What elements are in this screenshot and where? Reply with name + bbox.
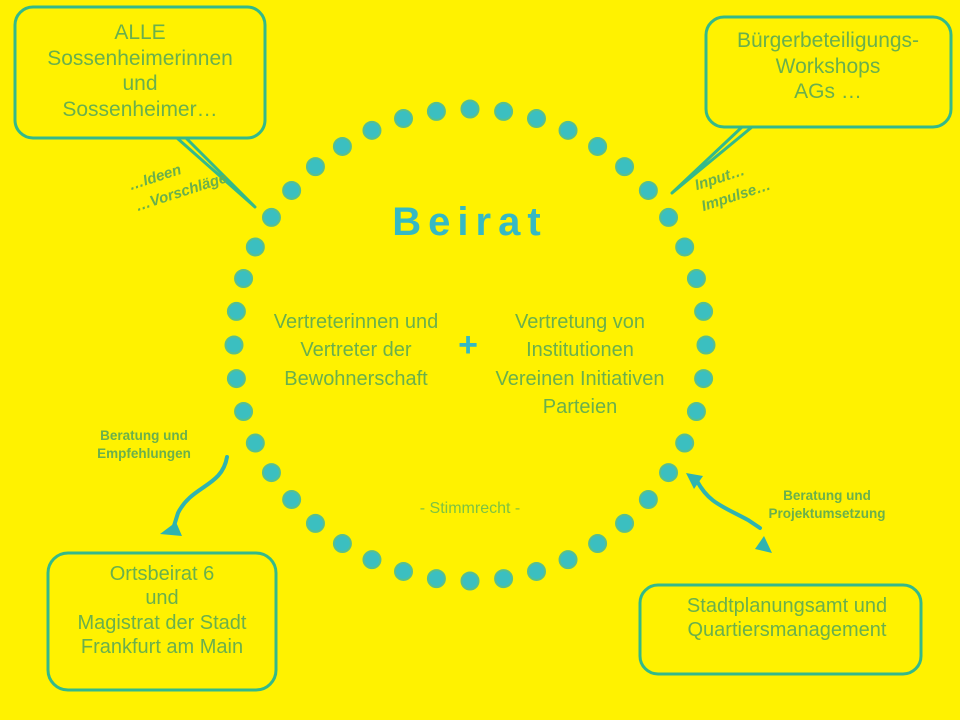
ring-dot — [428, 103, 445, 120]
beratung-empfehlungen-caption: Beratung und Empfehlungen — [74, 427, 214, 463]
ring-dot — [307, 515, 324, 532]
ring-dot — [528, 563, 545, 580]
ring-dot — [395, 563, 412, 580]
ring-dot — [228, 303, 245, 320]
beirat-right-column-text: Vertretung von Institutionen Vereinen In… — [492, 308, 668, 422]
ring-dot — [495, 570, 512, 587]
ring-dot — [695, 303, 712, 320]
ring-dot — [395, 110, 412, 127]
ortsbeirat-box[interactable] — [48, 553, 276, 690]
ring-dot — [247, 435, 264, 452]
ring-dot — [462, 573, 479, 590]
ring-dot — [560, 122, 577, 139]
ring-dot — [363, 122, 380, 139]
ring-dot — [228, 370, 245, 387]
ring-dot — [616, 515, 633, 532]
beratung-projektumsetzung-caption: Beratung und Projektumsetzung — [742, 487, 912, 523]
ring-dot — [676, 435, 693, 452]
ring-dot — [235, 403, 252, 420]
ring-dot — [688, 403, 705, 420]
buergerbeteiligung-bubble[interactable] — [672, 17, 951, 193]
ring-dot — [235, 270, 252, 287]
ring-dot — [695, 370, 712, 387]
plus-icon: + — [448, 328, 488, 362]
ring-dot — [495, 103, 512, 120]
ring-dot — [334, 535, 351, 552]
ring-dot — [283, 491, 300, 508]
ring-dot — [560, 551, 577, 568]
ring-dot — [428, 570, 445, 587]
ring-dot — [589, 535, 606, 552]
page-title: Beirat — [330, 200, 610, 245]
ring-dot — [334, 138, 351, 155]
ring-dot — [698, 337, 715, 354]
beratung-empfehlungen-arrow — [160, 457, 227, 536]
ring-dot — [660, 209, 677, 226]
ring-dot — [263, 464, 280, 481]
ring-dot — [226, 337, 243, 354]
ring-dot — [640, 182, 657, 199]
ring-dot — [307, 158, 324, 175]
ring-dot — [363, 551, 380, 568]
ring-dot — [676, 238, 693, 255]
ring-dot — [616, 158, 633, 175]
ring-dot — [688, 270, 705, 287]
ring-dot — [640, 491, 657, 508]
diagram-canvas: ALLE Sossenheimerinnen und Sossenheimer…… — [0, 0, 960, 720]
ring-dot — [263, 209, 280, 226]
ring-dot — [247, 238, 264, 255]
ring-dot — [589, 138, 606, 155]
stadtplanungsamt-box[interactable] — [640, 585, 921, 674]
stimmrecht-note: - Stimmrecht - — [370, 500, 570, 518]
ring-dot — [283, 182, 300, 199]
beirat-left-column-text: Vertreterinnen und Vertreter der Bewohne… — [268, 308, 444, 393]
ring-dot — [660, 464, 677, 481]
ring-dot — [528, 110, 545, 127]
ring-dot — [462, 101, 479, 118]
